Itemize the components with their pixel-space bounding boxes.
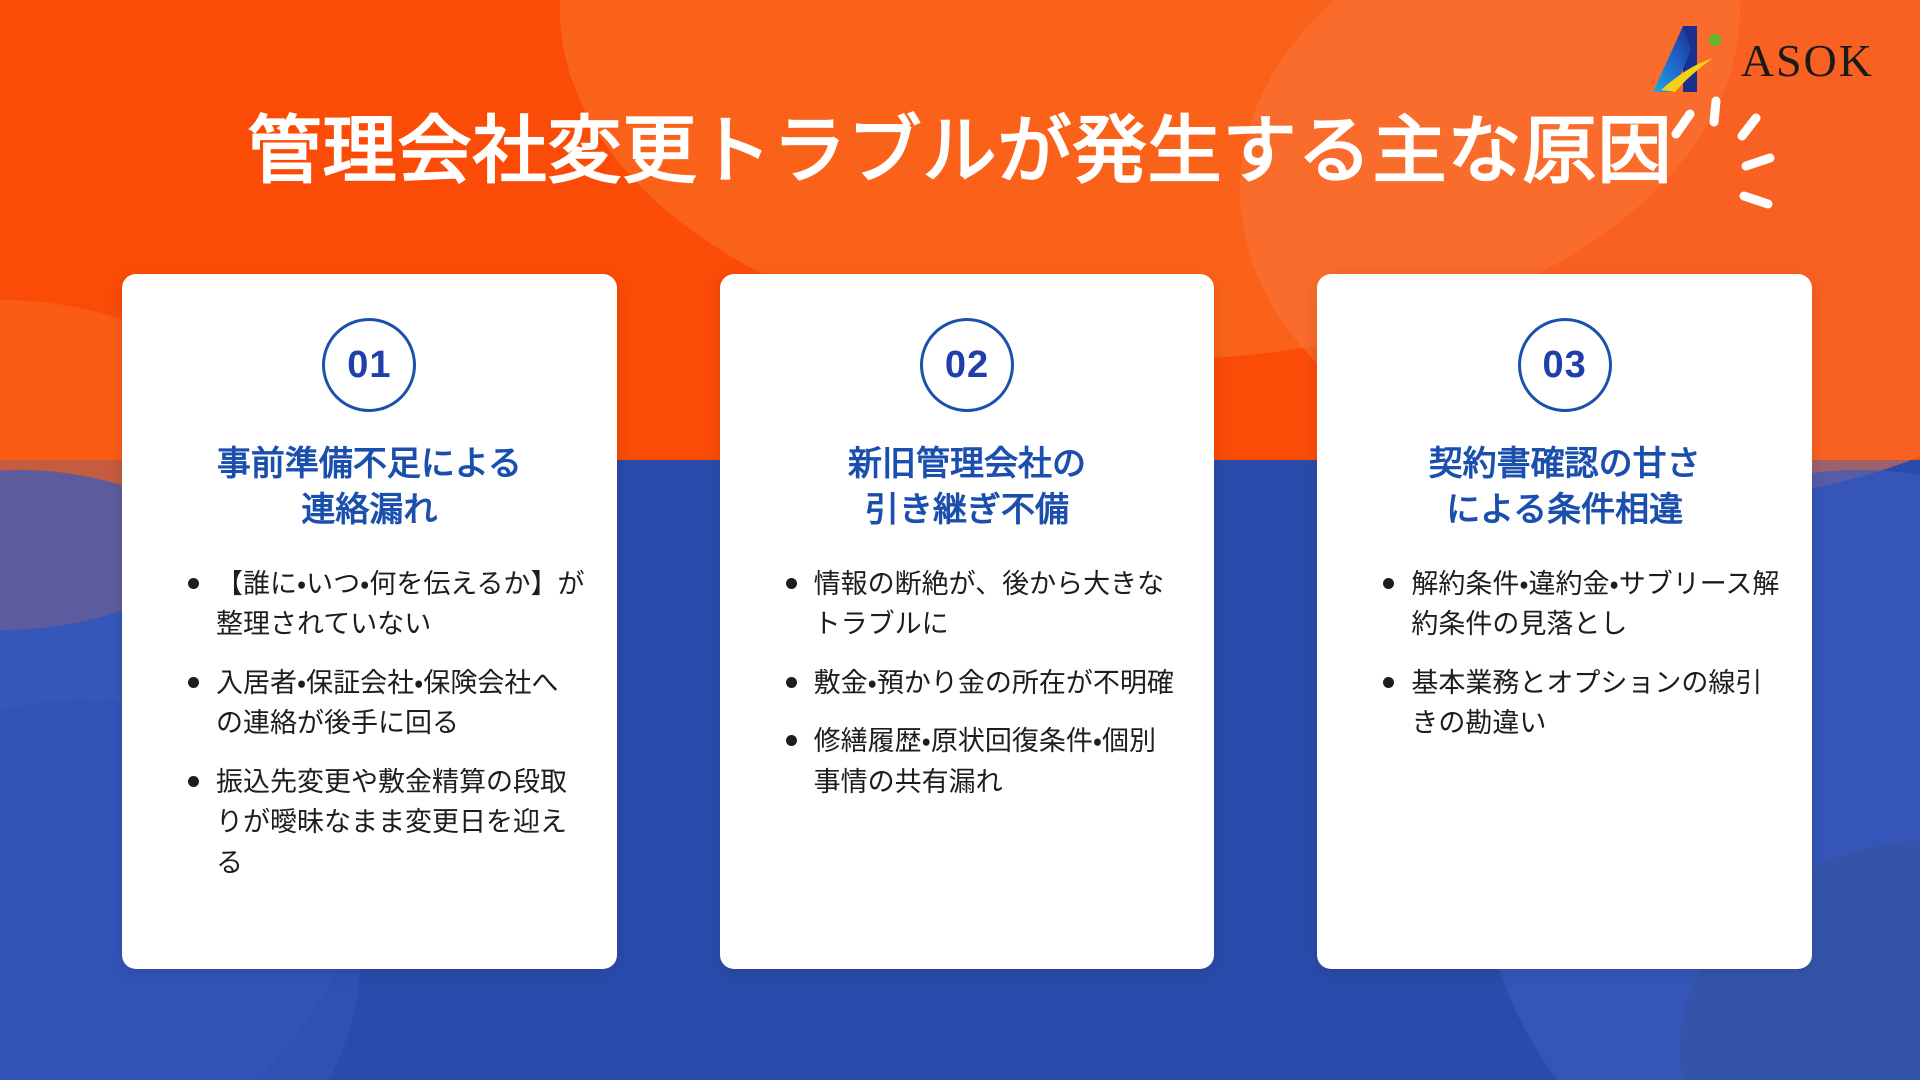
card-number-badge: 01 bbox=[322, 318, 416, 412]
card-heading-line-1: 事前準備不足による bbox=[217, 445, 522, 483]
page-title: 管理会社変更トラブルが発生する主な原因 bbox=[0, 108, 1920, 193]
logo-wordmark: ASOK bbox=[1741, 34, 1874, 87]
infographic-slide: ASOK 管理会社変更トラブルが発生する主な原因 01 事前準備不足による 連絡… bbox=[0, 0, 1920, 1080]
card-heading-line-2: 引き継ぎ不備 bbox=[865, 491, 1069, 529]
card-03: 03 契約書確認の甘さ による条件相違 解約条件・違約金・サブリース解約条件の見… bbox=[1317, 274, 1812, 969]
card-heading: 新旧管理会社の 引き継ぎ不備 bbox=[750, 442, 1185, 534]
brand-logo: ASOK bbox=[1645, 24, 1874, 96]
list-item: 入居者・保証会社・保険会社への連絡が後手に回る bbox=[186, 663, 585, 744]
list-item: 解約条件・違約金・サブリース解約条件の見落とし bbox=[1381, 564, 1780, 645]
card-heading-line-1: 新旧管理会社の bbox=[848, 445, 1086, 483]
list-item: 【誰に・いつ・何を伝えるか】が整理されていない bbox=[186, 564, 585, 645]
card-heading-line-2: による条件相違 bbox=[1446, 491, 1683, 529]
card-02: 02 新旧管理会社の 引き継ぎ不備 情報の断絶が、後から大きなトラブルに 敷金・… bbox=[720, 274, 1215, 969]
card-bullet-list: 解約条件・違約金・サブリース解約条件の見落とし 基本業務とオプションの線引きの勘… bbox=[1347, 564, 1782, 744]
card-heading-line-1: 契約書確認の甘さ bbox=[1429, 445, 1701, 483]
card-heading: 契約書確認の甘さ による条件相違 bbox=[1347, 442, 1782, 534]
card-01: 01 事前準備不足による 連絡漏れ 【誰に・いつ・何を伝えるか】が整理されていな… bbox=[122, 274, 617, 969]
cards-row: 01 事前準備不足による 連絡漏れ 【誰に・いつ・何を伝えるか】が整理されていな… bbox=[122, 274, 1812, 969]
list-item: 振込先変更や敷金精算の段取りが曖昧なまま変更日を迎える bbox=[186, 762, 585, 884]
list-item: 修繕履歴・原状回復条件・個別事情の共有漏れ bbox=[784, 721, 1183, 802]
card-bullet-list: 【誰に・いつ・何を伝えるか】が整理されていない 入居者・保証会社・保険会社への連… bbox=[152, 564, 587, 884]
card-number-badge: 02 bbox=[920, 318, 1014, 412]
list-item: 情報の断絶が、後から大きなトラブルに bbox=[784, 564, 1183, 645]
list-item: 敷金・預かり金の所在が不明確 bbox=[784, 663, 1183, 704]
card-bullet-list: 情報の断絶が、後から大きなトラブルに 敷金・預かり金の所在が不明確 修繕履歴・原… bbox=[750, 564, 1185, 803]
list-item: 基本業務とオプションの線引きの勘違い bbox=[1381, 663, 1780, 744]
card-heading-line-2: 連絡漏れ bbox=[301, 491, 437, 529]
asok-a-mark-icon bbox=[1645, 24, 1731, 96]
card-heading: 事前準備不足による 連絡漏れ bbox=[152, 442, 587, 534]
sparkle-burst-icon bbox=[1660, 96, 1780, 226]
card-number-badge: 03 bbox=[1518, 318, 1612, 412]
